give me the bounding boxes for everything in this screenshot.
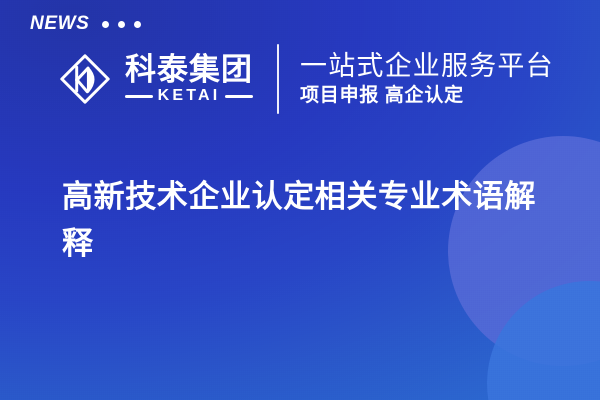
news-banner: NEWS 科泰集团	[0, 0, 600, 400]
tagline-block: 一站式企业服务平台 项目申报 高企认定	[300, 51, 554, 107]
tagline-sub: 项目申报 高企认定	[300, 85, 554, 107]
brand-name-en: KETAI	[158, 88, 221, 104]
brand-rule-left-icon	[125, 95, 153, 98]
page-title: 高新技术企业认定相关专业术语解释	[62, 173, 562, 267]
brand-tagline-divider	[277, 44, 279, 114]
news-dot-icon	[118, 21, 125, 28]
news-dot-icon	[102, 21, 109, 28]
news-eyebrow: NEWS	[30, 14, 141, 33]
news-dot-icon	[134, 21, 141, 28]
news-label: NEWS	[30, 14, 89, 33]
news-dots-icon	[102, 19, 141, 28]
ketai-diamond-kd-logo-icon	[57, 51, 113, 107]
brand-name-cn: 科泰集团	[125, 54, 253, 86]
banner-content: NEWS 科泰集团	[0, 0, 600, 400]
brand-header-row: 科泰集团 KETAI 一站式企业服务平台 项目申报 高企认定	[57, 44, 554, 114]
brand-name-en-row: KETAI	[125, 88, 253, 104]
brand-rule-right-icon	[225, 95, 253, 98]
tagline-main: 一站式企业服务平台	[300, 51, 554, 81]
brand-lockup: 科泰集团 KETAI	[57, 51, 253, 107]
brand-names: 科泰集团 KETAI	[125, 54, 253, 105]
